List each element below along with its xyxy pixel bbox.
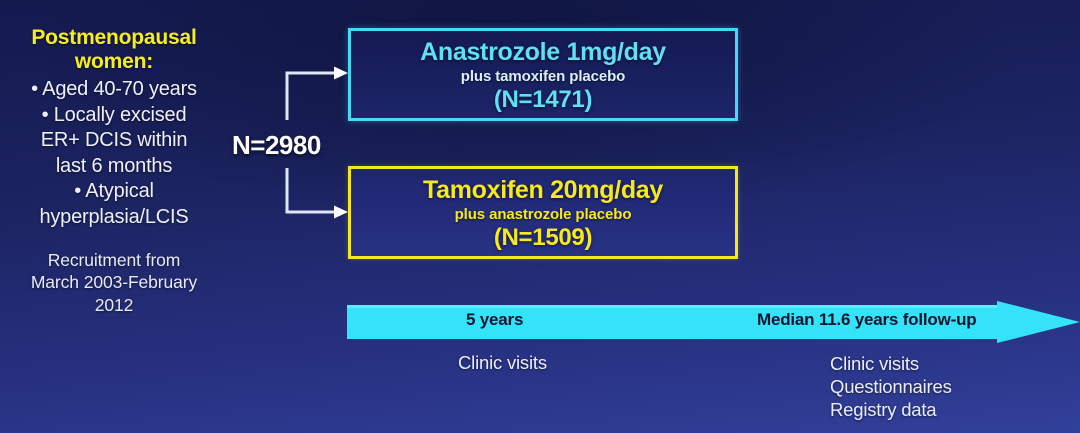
recruitment-line: 2012 — [0, 294, 228, 317]
eligibility-panel: Postmenopausal women: • Aged 40-70 years… — [0, 26, 228, 317]
arm-box-anastrozole: Anastrozole 1mg/day plus tamoxifen place… — [348, 28, 738, 121]
eligibility-title-text: Postmenopausal women: — [0, 26, 228, 73]
treatment-phase-notes: Clinic visits — [458, 352, 547, 375]
recruitment-period: Recruitment from March 2003-February 201… — [0, 249, 228, 317]
eligibility-criteria-list: • Aged 40-70 years • Locally excised ER+… — [0, 77, 228, 231]
followup-phase-notes: Clinic visits Questionnaires Registry da… — [830, 353, 952, 421]
criterion-item: hyperplasia/LCIS — [0, 205, 228, 231]
timeline-treatment-label: 5 years — [466, 310, 523, 330]
arm-enrollment: (N=1509) — [351, 224, 735, 252]
note-line: Questionnaires — [830, 376, 952, 399]
recruitment-line: Recruitment from — [0, 249, 228, 272]
timeline-followup-label: Median 11.6 years follow-up — [757, 310, 976, 330]
arm-subtitle: plus anastrozole placebo — [351, 206, 735, 223]
trial-design-slide: Postmenopausal women: • Aged 40-70 years… — [0, 0, 1080, 433]
criterion-item: • Locally excised — [0, 103, 228, 129]
randomization-total-label: N=2980 — [232, 130, 321, 161]
criterion-item: • Aged 40-70 years — [0, 77, 228, 103]
criterion-item: • Atypical — [0, 179, 228, 205]
note-line: Registry data — [830, 399, 952, 422]
eligibility-title: Postmenopausal women: — [0, 26, 228, 73]
arm-title: Anastrozole 1mg/day — [351, 39, 735, 66]
note-line: Clinic visits — [830, 353, 952, 376]
arm-subtitle: plus tamoxifen placebo — [351, 68, 735, 85]
criterion-item: last 6 months — [0, 154, 228, 180]
criterion-item: ER+ DCIS within — [0, 128, 228, 154]
arm-box-tamoxifen: Tamoxifen 20mg/day plus anastrozole plac… — [348, 166, 738, 259]
arm-title: Tamoxifen 20mg/day — [351, 177, 735, 204]
note-line: Clinic visits — [458, 352, 547, 375]
arm-enrollment: (N=1471) — [351, 86, 735, 114]
recruitment-line: March 2003-February — [0, 271, 228, 294]
